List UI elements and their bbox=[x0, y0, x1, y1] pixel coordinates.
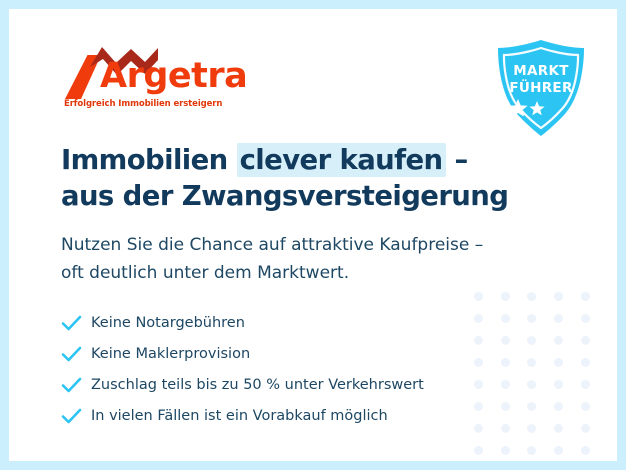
list-item-label: In vielen Fällen ist ein Vorabkauf mögli… bbox=[91, 408, 388, 424]
headline-suffix: – bbox=[446, 144, 468, 176]
dot bbox=[527, 292, 536, 301]
list-item: Zuschlag teils bis zu 50 % unter Verkehr… bbox=[61, 369, 581, 400]
dot bbox=[581, 314, 590, 323]
headline-highlight: clever kaufen bbox=[237, 143, 446, 177]
dot bbox=[581, 446, 590, 455]
page-title: Immobilien clever kaufen – aus der Zwang… bbox=[61, 142, 561, 214]
subheading-line-1: Nutzen Sie die Chance auf attraktive Kau… bbox=[61, 231, 581, 259]
logo-wordmark: Argetra bbox=[100, 59, 247, 94]
check-icon bbox=[61, 315, 91, 331]
argetra-logo[interactable]: Argetra Erfolgreich Immobilien ersteiger… bbox=[61, 47, 261, 117]
dot bbox=[474, 446, 483, 455]
check-icon bbox=[61, 377, 91, 393]
badge-line-1: MARKT bbox=[489, 65, 593, 79]
dot bbox=[554, 446, 563, 455]
dot bbox=[501, 292, 510, 301]
dot bbox=[581, 358, 590, 367]
check-icon bbox=[61, 346, 91, 362]
banner-stage: Argetra Erfolgreich Immobilien ersteiger… bbox=[9, 9, 617, 461]
market-leader-badge: MARKT FÜHRER bbox=[489, 37, 593, 141]
logo-tagline: Erfolgreich Immobilien ersteigern bbox=[64, 99, 222, 109]
dot bbox=[501, 446, 510, 455]
list-item-label: Keine Maklerprovision bbox=[91, 346, 250, 362]
benefits-list: Keine Notargebühren Keine Maklerprovisio… bbox=[61, 307, 581, 431]
subheading: Nutzen Sie die Chance auf attraktive Kau… bbox=[61, 231, 581, 287]
headline-line-2: aus der Zwangsversteigerung bbox=[61, 178, 561, 214]
dot bbox=[581, 380, 590, 389]
dot bbox=[581, 424, 590, 433]
subheading-line-2: oft deutlich unter dem Marktwert. bbox=[61, 259, 581, 287]
badge-stars bbox=[489, 99, 593, 116]
list-item-label: Zuschlag teils bis zu 50 % unter Verkehr… bbox=[91, 377, 424, 393]
list-item-label: Keine Notargebühren bbox=[91, 315, 245, 331]
badge-line-2: FÜHRER bbox=[489, 82, 593, 96]
dot bbox=[581, 292, 590, 301]
dot bbox=[581, 336, 590, 345]
dot bbox=[527, 446, 536, 455]
dot bbox=[474, 292, 483, 301]
headline-prefix: Immobilien bbox=[61, 144, 237, 176]
headline-line-1: Immobilien clever kaufen – bbox=[61, 142, 561, 178]
promo-banner: Argetra Erfolgreich Immobilien ersteiger… bbox=[0, 0, 626, 470]
list-item: Keine Notargebühren bbox=[61, 307, 581, 338]
dot bbox=[581, 402, 590, 411]
check-icon bbox=[61, 408, 91, 424]
list-item: Keine Maklerprovision bbox=[61, 338, 581, 369]
list-item: In vielen Fällen ist ein Vorabkauf mögli… bbox=[61, 400, 581, 431]
three-stars-icon bbox=[489, 99, 547, 116]
dot bbox=[554, 292, 563, 301]
